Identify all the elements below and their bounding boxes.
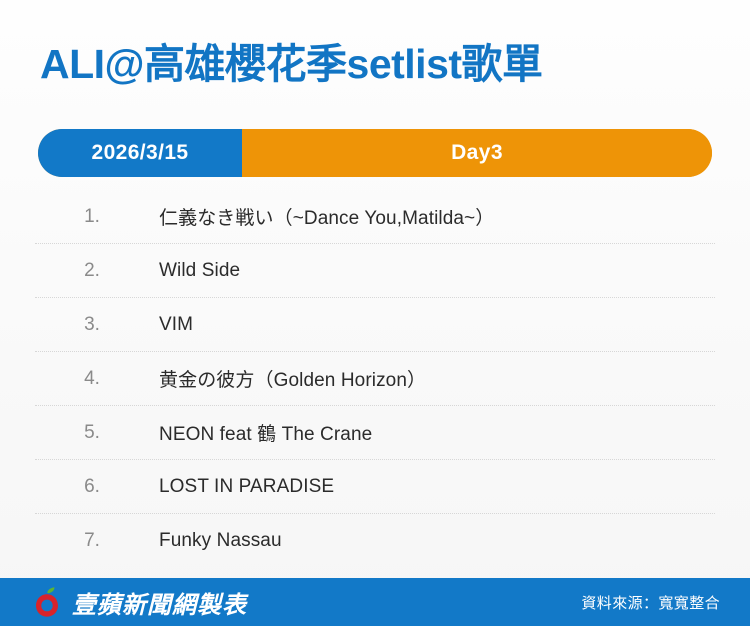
table-row: 5. NEON feat 鶴 The Crane bbox=[35, 406, 715, 460]
table-row: 6. LOST IN PARADISE bbox=[35, 460, 715, 514]
footer-brand: 壹蘋新聞網製表 bbox=[32, 585, 247, 620]
table-row: 4. 黄金の彼方（Golden Horizon） bbox=[35, 352, 715, 406]
setlist-header-bar: 2026/3/15 Day3 bbox=[38, 129, 712, 177]
row-song-title: 黄金の彼方（Golden Horizon） bbox=[159, 365, 715, 392]
footer-source-label: 資料來源：寬寬整合 bbox=[581, 592, 720, 613]
table-row: 1. 仁義なき戦い（~Dance You,Matilda~） bbox=[35, 190, 715, 244]
row-song-title: 仁義なき戦い（~Dance You,Matilda~） bbox=[159, 203, 715, 230]
row-index: 6. bbox=[35, 476, 159, 498]
row-index: 1. bbox=[35, 206, 159, 228]
header-day-label: Day3 bbox=[242, 129, 712, 177]
apple-logo-icon bbox=[32, 586, 62, 618]
table-row: 2. Wild Side bbox=[35, 244, 715, 298]
row-index: 7. bbox=[35, 530, 159, 552]
row-index: 2. bbox=[35, 260, 159, 282]
row-song-title: Funky Nassau bbox=[159, 530, 715, 552]
table-row: 3. VIM bbox=[35, 298, 715, 352]
footer-bar: 壹蘋新聞網製表 資料來源：寬寬整合 bbox=[0, 578, 750, 626]
row-song-title: Wild Side bbox=[159, 260, 715, 282]
page-title-container: ALI@高雄櫻花季setlist歌單 bbox=[40, 34, 710, 96]
row-index: 3. bbox=[35, 314, 159, 336]
setlist-table: 1. 仁義なき戦い（~Dance You,Matilda~） 2. Wild S… bbox=[35, 190, 715, 567]
infographic-canvas: ALI@高雄櫻花季setlist歌單 2026/3/15 Day3 1. 仁義な… bbox=[0, 0, 750, 626]
footer-brand-label: 壹蘋新聞網製表 bbox=[72, 585, 247, 620]
row-index: 5. bbox=[35, 422, 159, 444]
row-song-title: LOST IN PARADISE bbox=[159, 476, 715, 498]
row-song-title: VIM bbox=[159, 314, 715, 336]
row-song-title: NEON feat 鶴 The Crane bbox=[159, 419, 715, 446]
header-date-label: 2026/3/15 bbox=[38, 129, 242, 177]
table-row: 7. Funky Nassau bbox=[35, 514, 715, 567]
row-index: 4. bbox=[35, 368, 159, 390]
page-title: ALI@高雄櫻花季setlist歌單 bbox=[40, 43, 543, 86]
